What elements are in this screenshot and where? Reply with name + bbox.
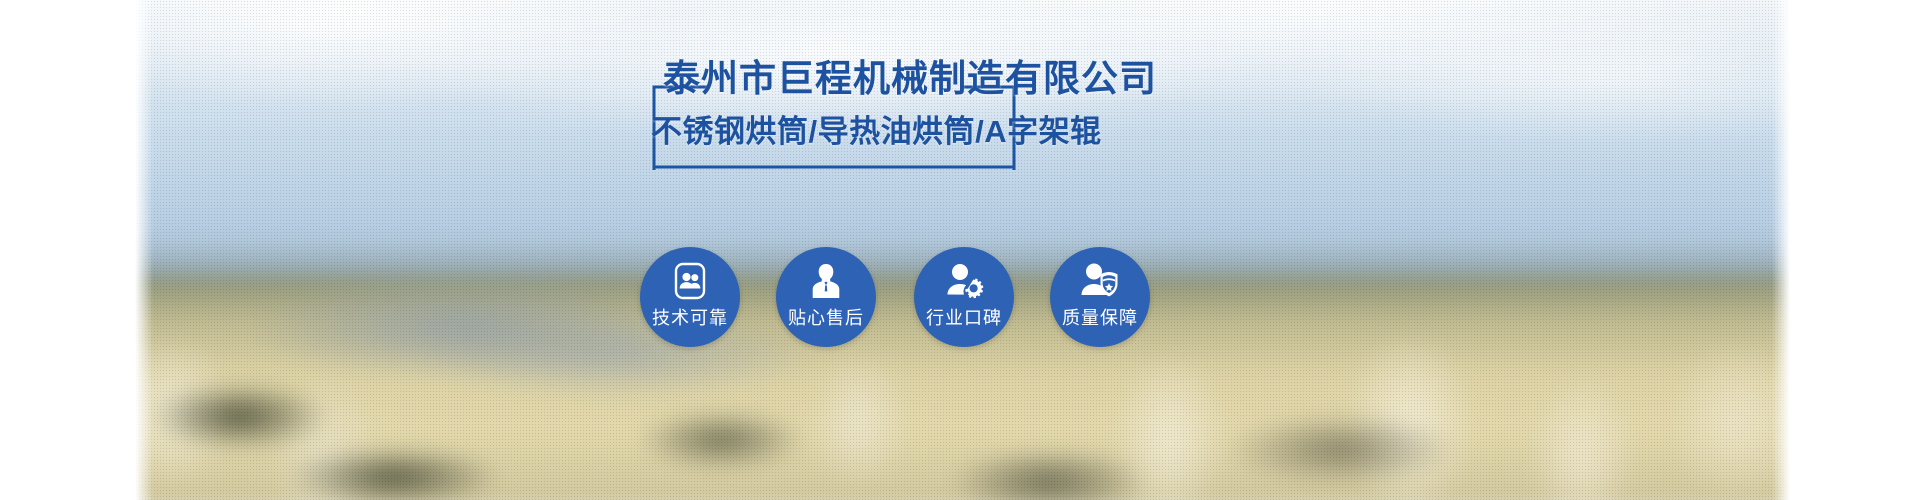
feature-badge-technology[interactable]: 技术可靠 [640,247,740,347]
users-in-frame-icon [640,259,740,303]
feature-badge-aftersales[interactable]: 贴心售后 [776,247,876,347]
right-edge-fade [1772,0,1790,500]
feature-badge-quality[interactable]: 质量保障 [1050,247,1150,347]
headline-block: 泰州市巨程机械制造有限公司 不锈钢烘筒/导热油烘筒/A字架辊 [651,84,1017,170]
feature-badge-reputation[interactable]: 行业口碑 [914,247,1014,347]
company-name: 泰州市巨程机械制造有限公司 [651,56,1169,102]
feature-badge-label: 贴心售后 [770,305,882,331]
person-suit-icon [776,259,876,303]
feature-badge-label: 行业口碑 [908,305,1020,331]
feature-badge-list: 技术可靠 贴心售后 行 [640,247,1060,387]
left-edge-fade [135,0,153,500]
company-name-wrap: 泰州市巨程机械制造有限公司 [651,56,1017,102]
product-line: 不锈钢烘筒/导热油烘筒/A字架辊 [651,112,1017,152]
person-shield-icon [1050,259,1150,303]
person-gear-icon [914,259,1014,303]
feature-badge-label: 质量保障 [1044,305,1156,331]
feature-badge-label: 技术可靠 [634,305,746,331]
hero-banner: 泰州市巨程机械制造有限公司 不锈钢烘筒/导热油烘筒/A字架辊 技术可靠 [0,0,1920,500]
